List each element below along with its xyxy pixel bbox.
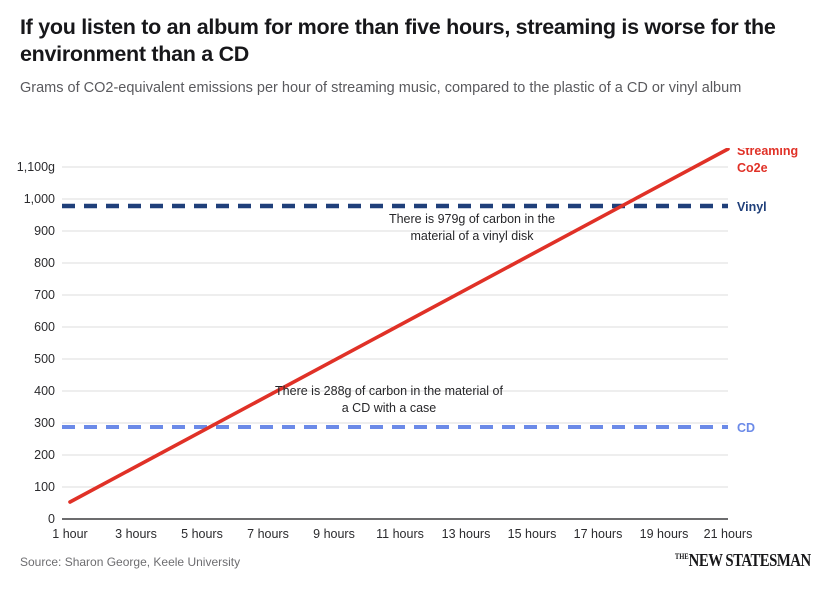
x-axis-labels: 1 hour 3 hours 5 hours 7 hours 9 hours 1… [52, 527, 752, 541]
cd-annotation-line2: a CD with a case [342, 401, 437, 415]
cd-annotation: There is 288g of carbon in the material … [275, 384, 503, 415]
legend-label-streaming-line1[interactable]: Streaming [737, 148, 798, 158]
source-note: Source: Sharon George, Keele University [20, 555, 240, 569]
legend-label-vinyl[interactable]: Vinyl [737, 200, 767, 214]
xtick-label-19: 19 hours [640, 527, 689, 541]
legend-label-streaming-line2[interactable]: Co2e [737, 161, 768, 175]
logo-the: THE [675, 552, 689, 561]
xtick-label-3: 3 hours [115, 527, 157, 541]
xtick-label-17: 17 hours [574, 527, 623, 541]
logo-name: NEW STATESMAN [689, 550, 811, 570]
chart-footer: Source: Sharon George, Keele University … [0, 548, 831, 590]
ytick-label-1100: 1,100g [17, 160, 55, 174]
page-title: If you listen to an album for more than … [20, 14, 790, 68]
new-statesman-logo: THENEW STATESMAN [675, 550, 811, 571]
y-axis-labels: 1,100g 1,000 900 800 700 600 500 400 300… [17, 160, 55, 526]
ytick-label-0: 0 [48, 512, 55, 526]
chart-legend: Streaming Co2e Vinyl CD [737, 148, 798, 435]
ytick-label-400: 400 [34, 384, 55, 398]
cd-annotation-line1: There is 288g of carbon in the material … [275, 384, 503, 398]
xtick-label-11: 11 hours [376, 527, 424, 541]
legend-label-cd[interactable]: CD [737, 421, 755, 435]
xtick-label-15: 15 hours [508, 527, 557, 541]
ytick-label-1000: 1,000 [24, 192, 55, 206]
chart-subtitle: Grams of CO2-equivalent emissions per ho… [20, 77, 790, 99]
xtick-label-13: 13 hours [442, 527, 491, 541]
ytick-label-500: 500 [34, 352, 55, 366]
ytick-label-600: 600 [34, 320, 55, 334]
chart-header: If you listen to an album for more than … [20, 14, 790, 99]
ytick-label-800: 800 [34, 256, 55, 270]
xtick-label-7: 7 hours [247, 527, 289, 541]
xtick-label-9: 9 hours [313, 527, 355, 541]
ytick-label-300: 300 [34, 416, 55, 430]
vinyl-annotation-line2: material of a vinyl disk [411, 229, 535, 243]
xtick-label-1: 1 hour [52, 527, 87, 541]
ytick-label-200: 200 [34, 448, 55, 462]
ytick-label-100: 100 [34, 480, 55, 494]
vinyl-annotation: There is 979g of carbon in the material … [389, 212, 555, 243]
xtick-label-21: 21 hours [704, 527, 753, 541]
xtick-label-5: 5 hours [181, 527, 223, 541]
vinyl-annotation-line1: There is 979g of carbon in the [389, 212, 555, 226]
chart-plot-area: 1,100g 1,000 900 800 700 600 500 400 300… [0, 148, 831, 543]
series-line-streaming [70, 149, 728, 502]
ytick-label-900: 900 [34, 224, 55, 238]
ytick-label-700: 700 [34, 288, 55, 302]
chart-svg: 1,100g 1,000 900 800 700 600 500 400 300… [0, 148, 831, 543]
chart-page: If you listen to an album for more than … [0, 0, 831, 590]
